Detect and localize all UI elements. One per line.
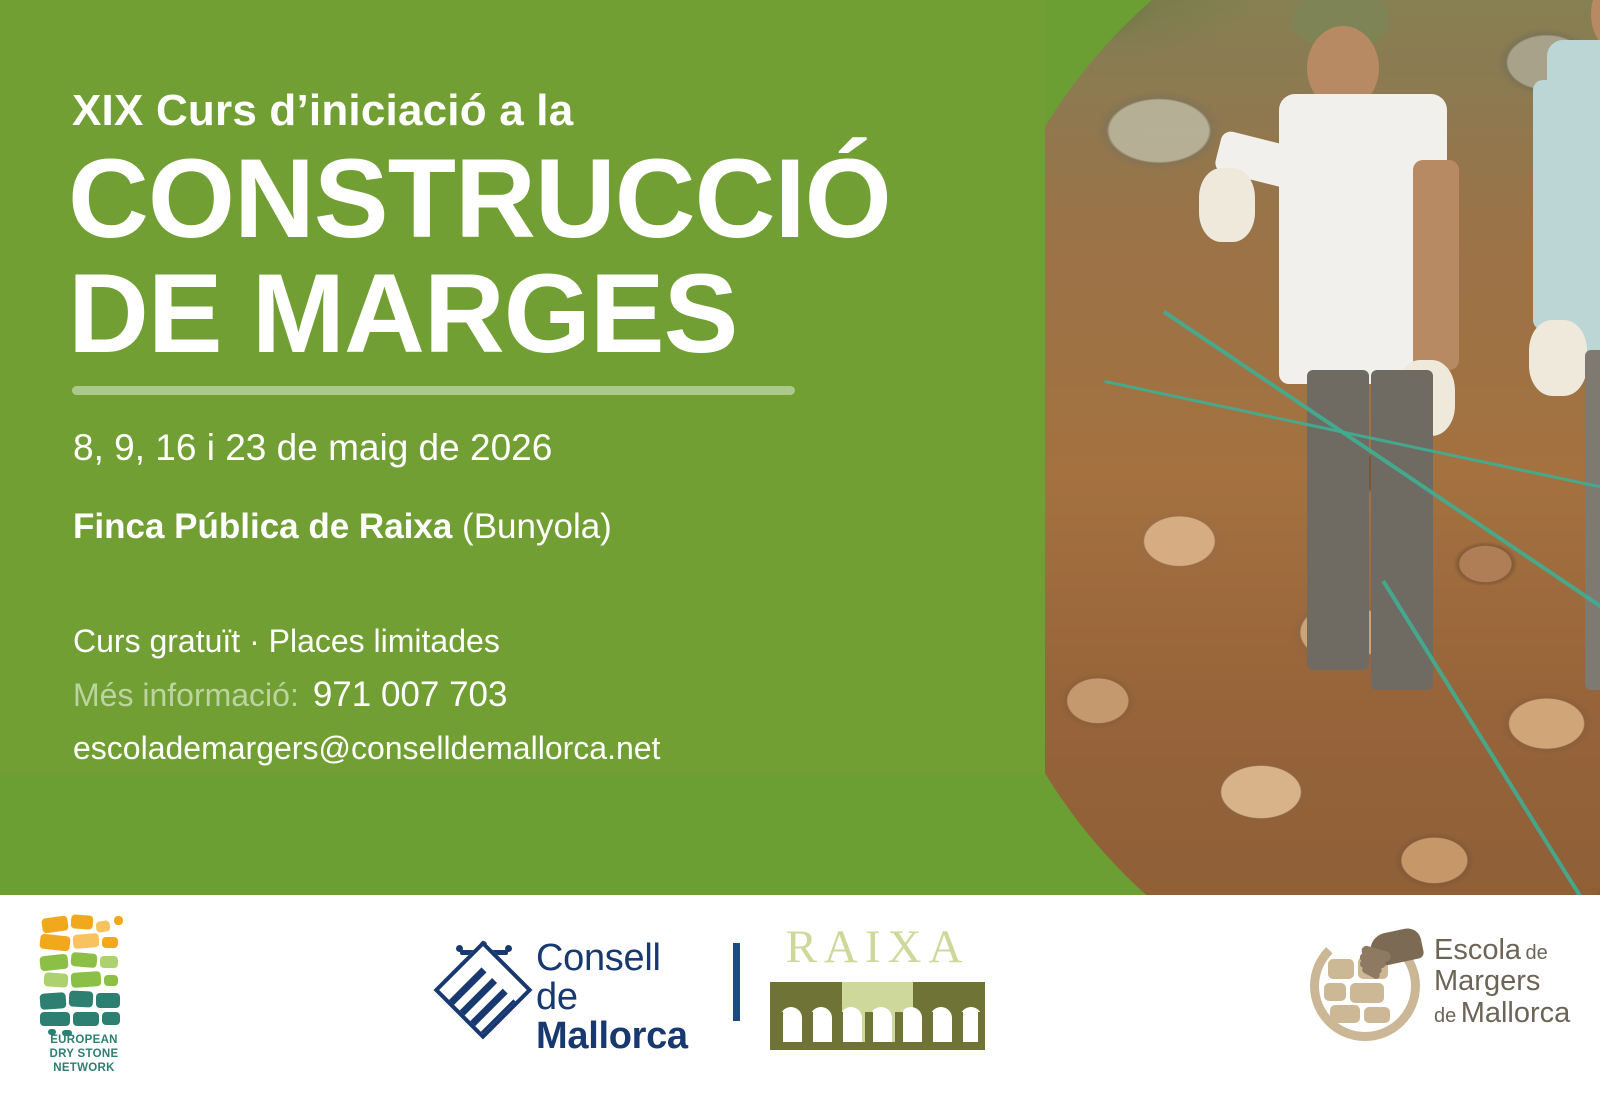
edsn-caption: EUROPEAN DRY STONE NETWORK: [30, 1033, 138, 1075]
free-notice: Curs gratuït · Places limitades: [73, 623, 500, 660]
title-divider: [72, 386, 795, 395]
kicker-text: XIX Curs d’iniciació a la: [72, 86, 573, 136]
consell-shield-icon: [440, 941, 528, 1033]
consell-wordmark: Consell de Mallorca: [536, 939, 710, 1055]
escola-line1-small: de: [1526, 942, 1548, 964]
escola-line2: Margers: [1434, 966, 1570, 997]
escola-line2-big: Margers: [1434, 965, 1540, 997]
edsn-line2: DRY STONE: [30, 1047, 138, 1061]
raixa-arcade-icon: [770, 982, 985, 1050]
dry-stone-wall-photo: [955, 0, 1600, 895]
location-town: (Bunyola): [462, 507, 612, 546]
logo-raixa: RAIXA: [770, 920, 985, 1050]
poster-root: XIX Curs d’iniciació a la CONSTRUCCIÓ DE…: [0, 0, 1600, 1100]
escola-line3: de Mallorca: [1434, 998, 1570, 1029]
edsn-stones-icon: [38, 913, 130, 1031]
consell-line2: Mallorca: [536, 1017, 710, 1056]
email-address[interactable]: escolademargers@conselldemallorca.net: [73, 730, 660, 767]
logo-separator: [733, 943, 740, 1021]
edsn-line3: NETWORK: [30, 1061, 138, 1075]
more-info-label: Més informació:: [73, 677, 299, 713]
escola-line3-small: de: [1434, 1005, 1456, 1027]
logo-european-dry-stone-network: EUROPEAN DRY STONE NETWORK: [30, 905, 138, 1090]
phone-number[interactable]: 971 007 703: [313, 675, 508, 714]
footer-logo-bar: EUROPEAN DRY STONE NETWORK: [0, 895, 1600, 1100]
escola-line3-big: Mallorca: [1461, 997, 1571, 1029]
escola-wordmark: Escola de Margers de Mallorca: [1434, 935, 1570, 1029]
escola-line1-big: Escola: [1434, 934, 1521, 966]
course-location: Finca Pública de Raixa (Bunyola): [73, 507, 612, 547]
course-dates: 8, 9, 16 i 23 de maig de 2026: [73, 427, 552, 469]
escola-emblem-icon: [1308, 927, 1428, 1045]
worker-figure-right: [1535, 0, 1600, 770]
logo-escola-de-margers: Escola de Margers de Mallorca: [1308, 917, 1583, 1057]
page-title-line2: DE MARGES: [68, 258, 737, 370]
location-name: Finca Pública de Raixa: [73, 507, 452, 546]
page-title-line1: CONSTRUCCIÓ: [68, 143, 891, 255]
escola-line1: Escola de: [1434, 935, 1570, 966]
consell-diamond-icon: [434, 941, 533, 1040]
more-info-line: Més informació:971 007 703: [73, 675, 507, 715]
escola-hand-icon: [1356, 931, 1422, 987]
raixa-wordmark: RAIXA: [770, 920, 985, 974]
worker-figure-left: [1245, 0, 1495, 750]
logo-consell-de-mallorca: Consell de Mallorca: [440, 927, 710, 1047]
consell-line1: Consell de: [536, 939, 710, 1017]
edsn-line1: EUROPEAN: [30, 1033, 138, 1047]
